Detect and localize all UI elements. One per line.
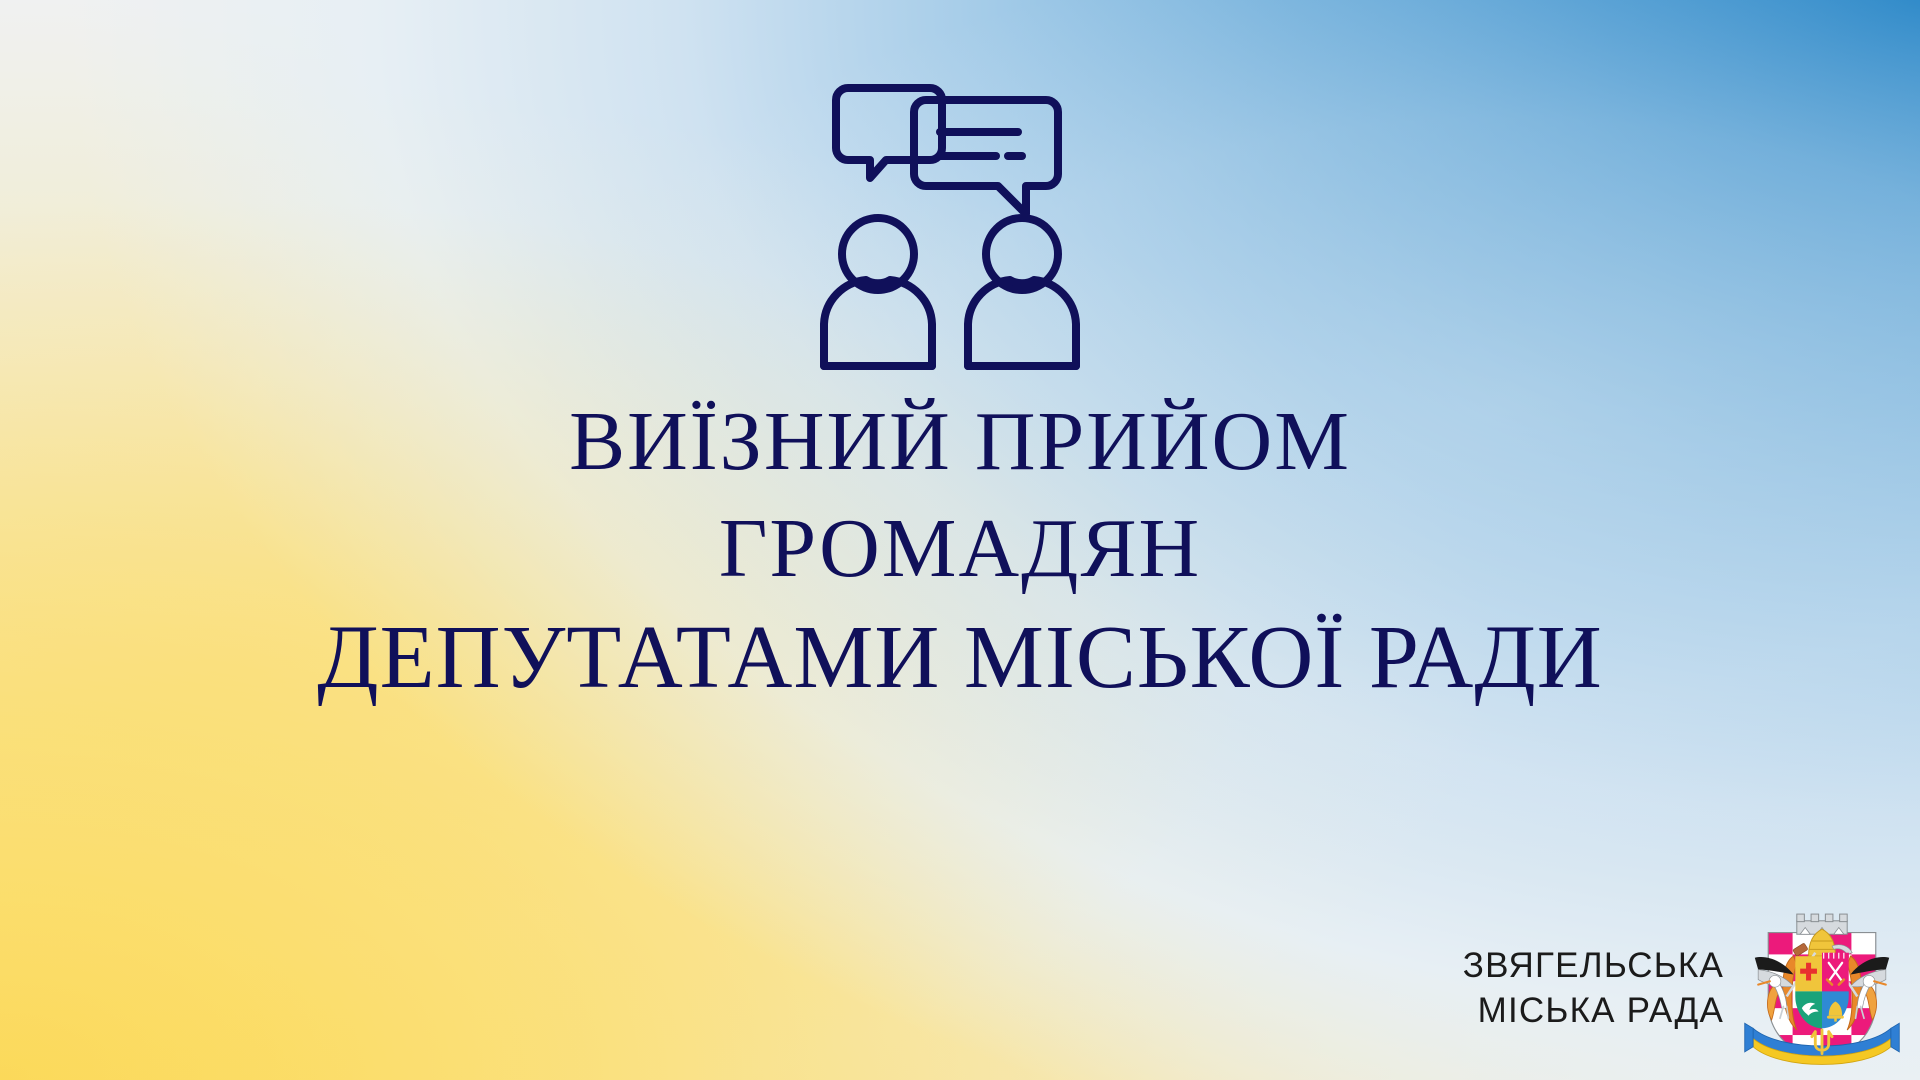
logo-text: ЗВЯГЕЛЬСЬКА МІСЬКА РАДА [1463,943,1724,1034]
logo-text-line-1: ЗВЯГЕЛЬСЬКА [1463,943,1724,989]
poster-canvas: Виїзний прийом громадян депутатами міськ… [0,0,1920,1080]
zviahel-coat-of-arms-icon [1738,904,1906,1072]
poster-content: Виїзний прийом громадян депутатами міськ… [0,0,1920,1080]
logo-block: ЗВЯГЕЛЬСЬКА МІСЬКА РАДА [1463,904,1906,1072]
headline: Виїзний прийом громадян депутатами міськ… [0,398,1920,704]
headline-line-3: депутатами міської ради [0,611,1920,705]
icon-container [0,74,1920,444]
inner-shield-crenellation [1822,953,1849,959]
logo-text-line-2: МІСЬКА РАДА [1463,988,1724,1034]
headline-line-2: громадян [0,505,1920,592]
two-people-speech-bubbles-icon [810,74,1110,444]
coat-of-arms [1738,904,1906,1072]
headline-line-1: Виїзний прийом [0,398,1920,485]
